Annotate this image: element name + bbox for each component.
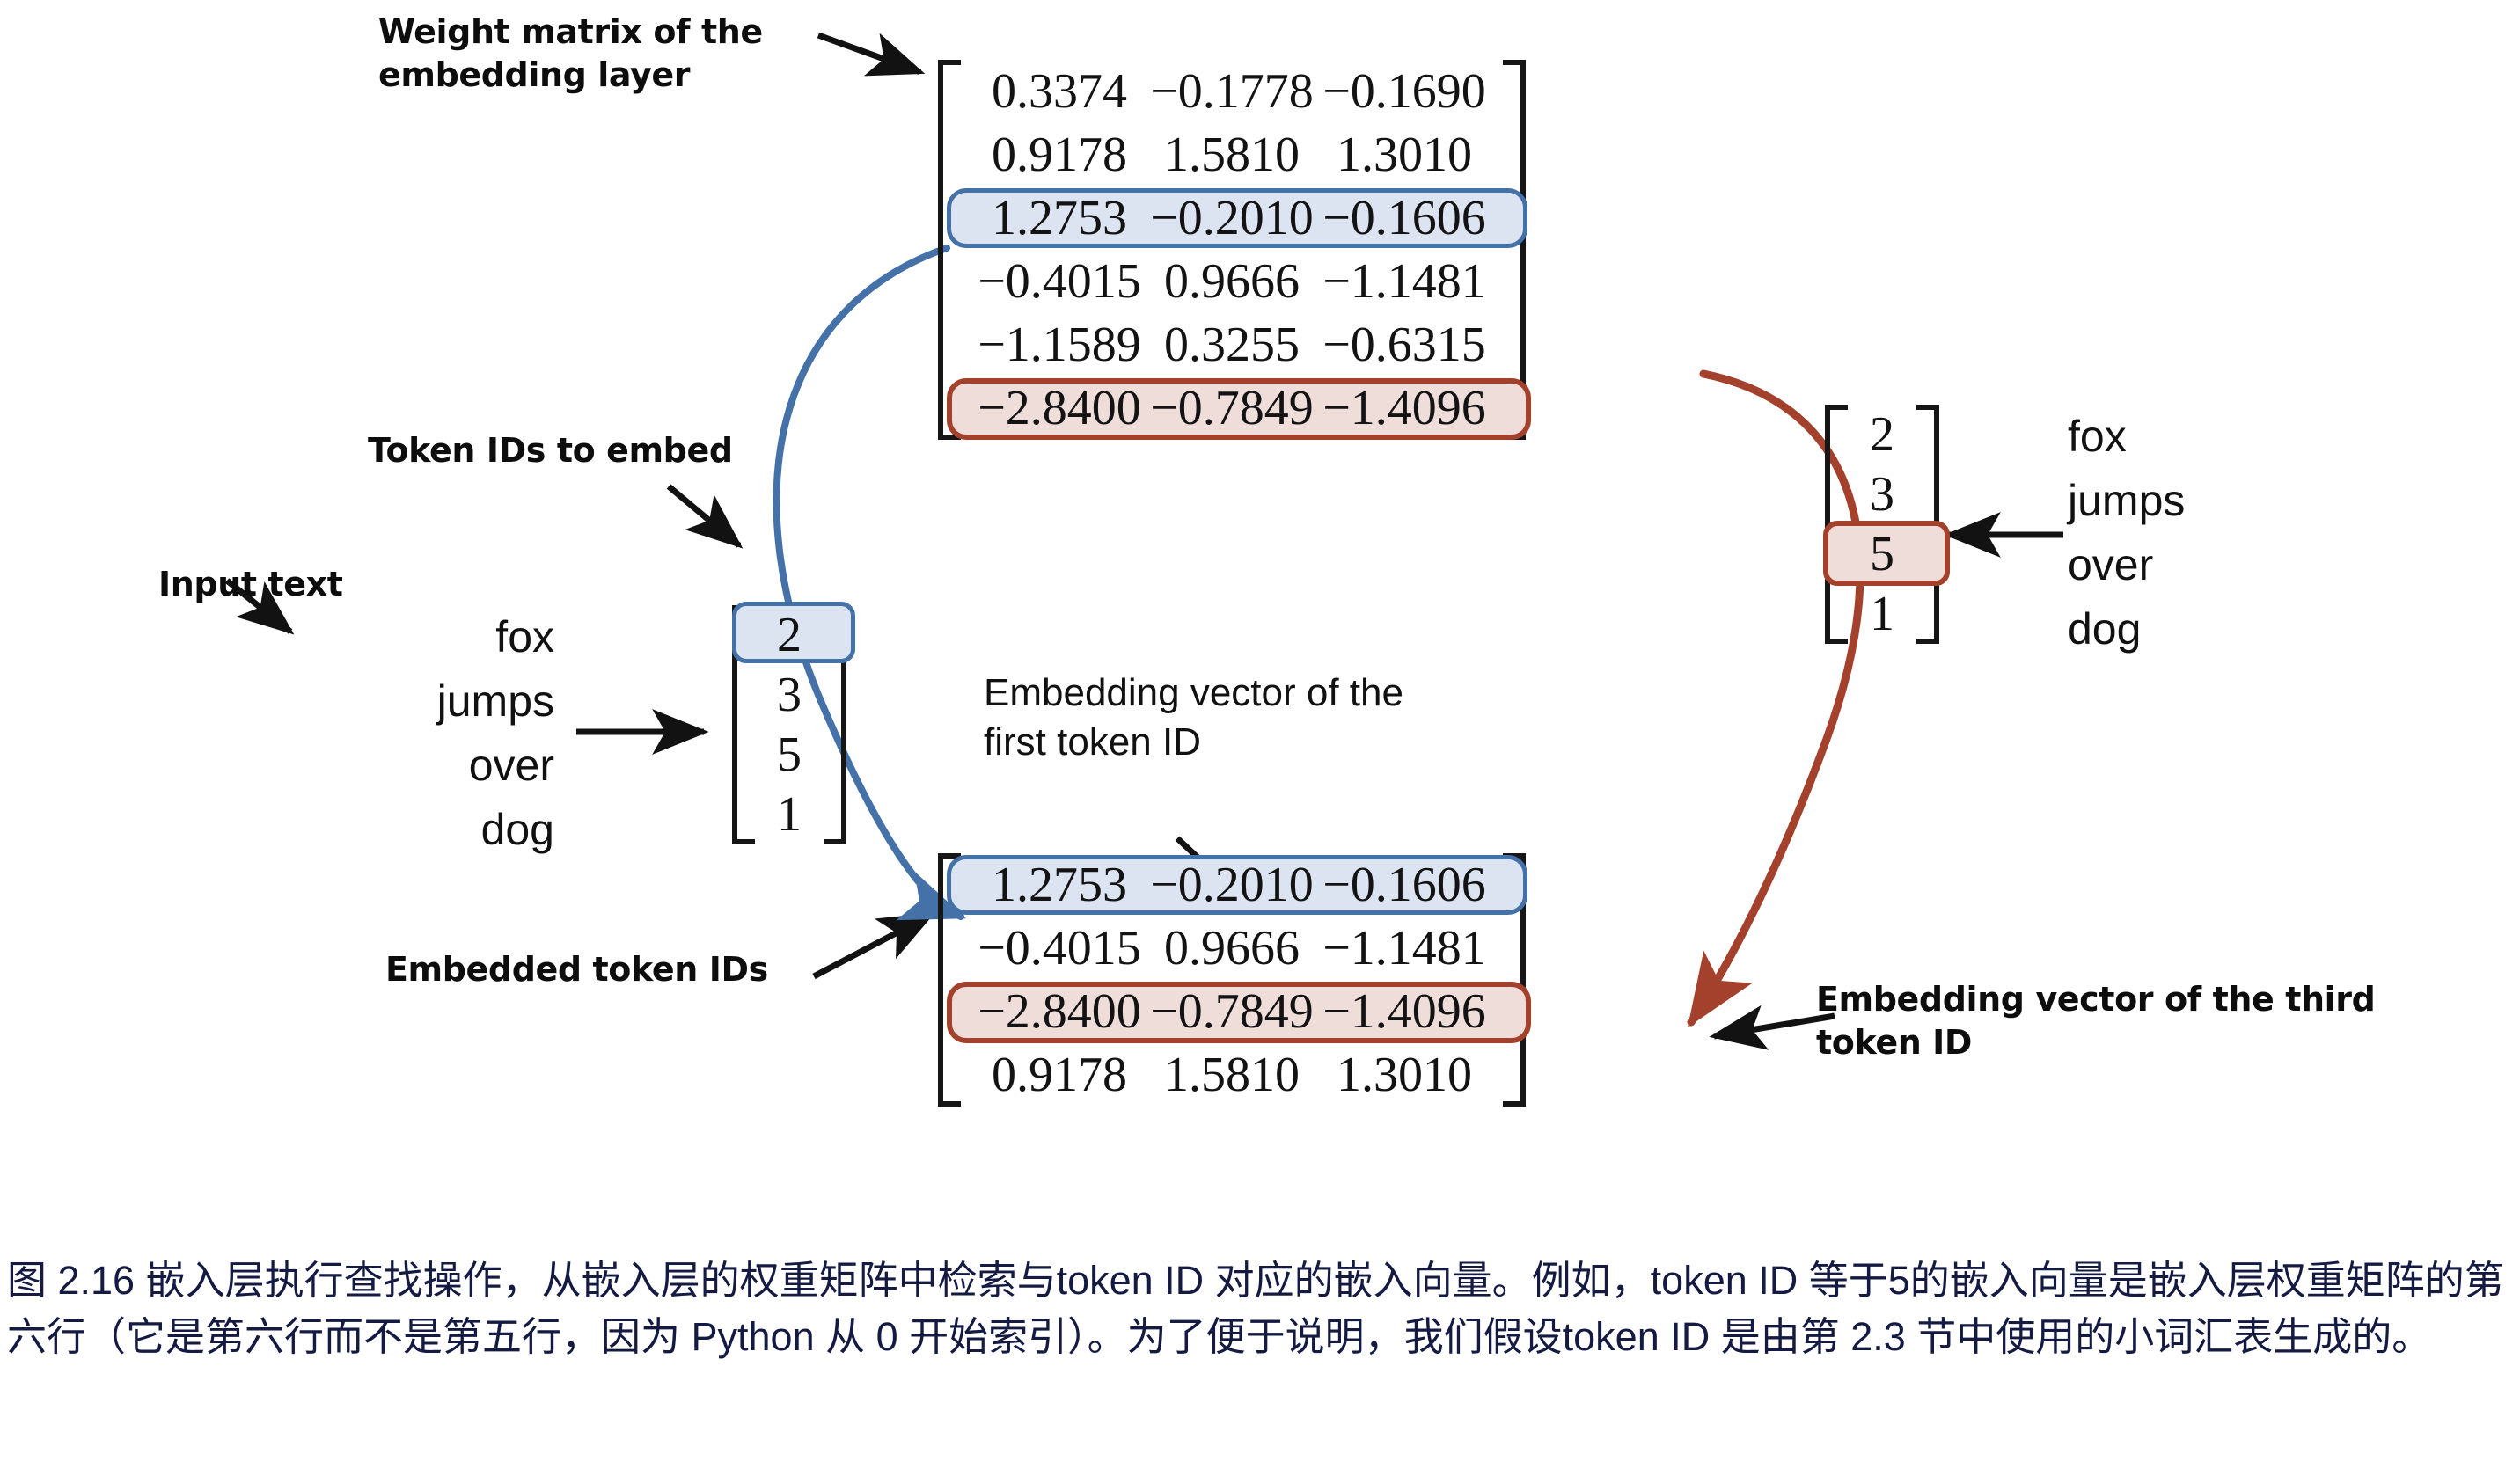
input-word: over (290, 734, 554, 798)
matrix-cell: −0.7849 (1146, 983, 1318, 1040)
weight-matrix: 0.3374 −0.1778 −0.1690 0.9178 1.5810 1.3… (938, 60, 1526, 440)
matrix-row-highlighted-blue: 1.2753 −0.2010 −0.1606 (961, 186, 1503, 250)
matrix-row: −0.4015 0.9666 −1.1481 (961, 250, 1503, 313)
matrix-cell: 1.2753 (973, 190, 1146, 246)
matrix-cell: 0.9178 (973, 1047, 1146, 1103)
vector-row-highlighted-blue: 2 (755, 605, 824, 665)
matrix-cell: −0.1690 (1318, 63, 1491, 120)
input-word: fox (290, 605, 554, 669)
right-side-words: fox jumps over dog (2068, 405, 2349, 661)
input-word: jumps (290, 669, 554, 734)
matrix-cell: −0.7849 (1146, 380, 1318, 436)
matrix-cell: 1.3010 (1318, 1047, 1491, 1103)
token-id-vector-left: 2 3 5 1 (732, 605, 846, 844)
label-embedding-vector-first: Embedding vector of the first token ID (984, 669, 1600, 768)
token-id: 1 (1857, 586, 1908, 642)
vector-row-highlighted-red: 5 (1848, 524, 1916, 584)
matrix-cell: 0.9666 (1146, 920, 1318, 976)
token-id: 3 (1857, 466, 1908, 522)
vector-row: 2 (1848, 405, 1916, 464)
arrow-token-ids-to-embed (669, 486, 739, 545)
matrix-row: −1.1589 0.3255 −0.6315 (961, 313, 1503, 376)
token-id: 1 (764, 786, 815, 843)
matrix-cell: −0.4015 (973, 253, 1146, 310)
matrix-row: 0.9178 1.5810 1.3010 (961, 123, 1503, 186)
matrix-cell: −1.1589 (973, 317, 1146, 373)
matrix-row: 0.9178 1.5810 1.3010 (961, 1043, 1503, 1107)
input-text-words: fox jumps over dog (290, 605, 554, 862)
token-id-vector-right: 2 3 5 1 (1825, 405, 1939, 644)
matrix-cell: 0.3255 (1146, 317, 1318, 373)
token-id: 5 (764, 727, 815, 783)
matrix-cell: 1.5810 (1146, 1047, 1318, 1103)
matrix-cell: 1.2753 (973, 857, 1146, 913)
matrix-row-highlighted-red: −2.8400 −0.7849 −1.4096 (961, 980, 1503, 1043)
matrix-row: −0.4015 0.9666 −1.1481 (961, 917, 1503, 980)
vector-row: 1 (755, 785, 824, 844)
matrix-cell: −0.1606 (1318, 857, 1491, 913)
matrix-row-highlighted-red: −2.8400 −0.7849 −1.4096 (961, 376, 1503, 440)
input-word: dog (290, 798, 554, 862)
matrix-cell: −0.1606 (1318, 190, 1491, 246)
matrix-cell: −0.4015 (973, 920, 1146, 976)
token-id-vector-right-rows: 2 3 5 1 (1848, 405, 1916, 644)
embedded-token-ids-matrix: 1.2753 −0.2010 −0.1606 −0.4015 0.9666 −1… (938, 853, 1526, 1107)
matrix-cell: −0.6315 (1318, 317, 1491, 373)
matrix-cell: −1.1481 (1318, 920, 1491, 976)
embedded-matrix-rows: 1.2753 −0.2010 −0.1606 −0.4015 0.9666 −1… (961, 853, 1503, 1107)
matrix-cell: −2.8400 (973, 983, 1146, 1040)
matrix-cell: 1.5810 (1146, 127, 1318, 183)
matrix-cell: 0.9178 (973, 127, 1146, 183)
label-token-ids-to-embed: Token IDs to embed (368, 429, 825, 472)
label-weight-matrix: Weight matrix of the embedding layer (378, 11, 836, 98)
matrix-cell: 0.9666 (1146, 253, 1318, 310)
matrix-row: 0.3374 −0.1778 −0.1690 (961, 60, 1503, 123)
matrix-cell: −1.4096 (1318, 983, 1491, 1040)
right-word: fox (2068, 405, 2349, 469)
figure-caption: 图 2.16 嵌入层执行查找操作，从嵌入层的权重矩阵中检索与token ID 对… (7, 1253, 2510, 1365)
label-input-text: Input text (158, 563, 449, 606)
matrix-cell: −0.2010 (1146, 190, 1318, 246)
matrix-cell: −1.1481 (1318, 253, 1491, 310)
token-id: 5 (1857, 526, 1908, 582)
matrix-cell: 1.3010 (1318, 127, 1491, 183)
token-id: 2 (764, 607, 815, 663)
token-id-vector-left-rows: 2 3 5 1 (755, 605, 824, 844)
label-embedded-token-ids: Embedded token IDs (385, 948, 878, 991)
weight-matrix-rows: 0.3374 −0.1778 −0.1690 0.9178 1.5810 1.3… (961, 60, 1503, 440)
label-embedding-vector-third: Embedding vector of the third token ID (1816, 978, 2485, 1065)
matrix-cell: −2.8400 (973, 380, 1146, 436)
matrix-cell: −0.2010 (1146, 857, 1318, 913)
figure-canvas: Weight matrix of the embedding layer Tok… (0, 0, 2520, 1476)
matrix-row-highlighted-blue: 1.2753 −0.2010 −0.1606 (961, 853, 1503, 917)
vector-row: 5 (755, 725, 824, 785)
matrix-cell: −0.1778 (1146, 63, 1318, 120)
vector-row: 3 (755, 665, 824, 725)
matrix-cell: 0.3374 (973, 63, 1146, 120)
token-id: 2 (1857, 406, 1908, 463)
right-word: dog (2068, 597, 2349, 661)
right-word: jumps (2068, 469, 2349, 533)
vector-row: 1 (1848, 584, 1916, 644)
token-id: 3 (764, 667, 815, 723)
right-word: over (2068, 533, 2349, 597)
matrix-cell: −1.4096 (1318, 380, 1491, 436)
vector-row: 3 (1848, 464, 1916, 524)
